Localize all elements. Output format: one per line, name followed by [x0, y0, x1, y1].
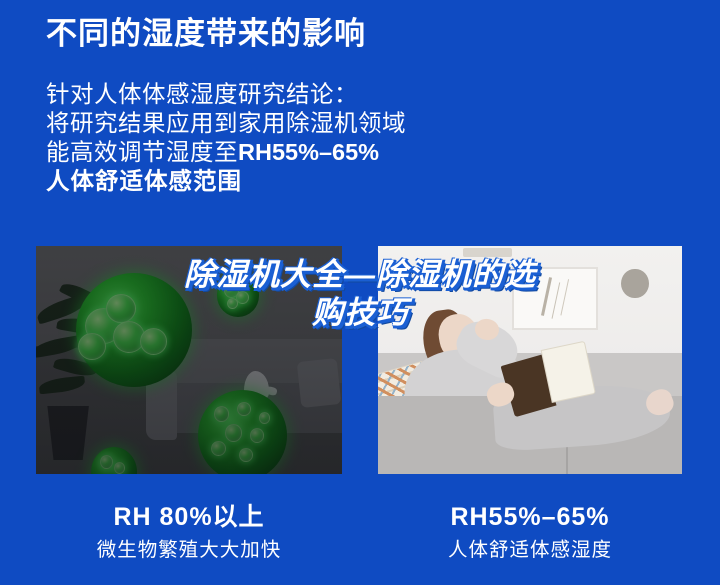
dark-sofa-seat: [152, 383, 342, 433]
wall-speaker: [621, 269, 648, 299]
intro-line-4: 人体舒适体感范围: [46, 167, 406, 196]
bright-room-scene: [378, 246, 682, 474]
dark-sofa-arm: [146, 371, 177, 439]
photo-right-comfort-humidity: [378, 246, 682, 474]
microbe-cell: [85, 308, 122, 344]
intro-line-3: 能高效调节湿度至RH55%–65%: [46, 138, 406, 167]
plant-leaf: [36, 335, 83, 358]
microbe-cluster-small: [91, 447, 137, 474]
microbe-cell: [250, 428, 264, 443]
intro-line-3-range: RH55%–65%: [238, 139, 379, 165]
microbe-cell: [259, 412, 271, 424]
microbe-cell: [236, 291, 249, 304]
intro-line-2: 将研究结果应用到家用除湿机领域: [46, 109, 406, 138]
plant-pot: [42, 406, 94, 461]
microbe-cluster-large: [76, 273, 192, 387]
caption-right-description: 人体舒适体感湿度: [378, 538, 682, 562]
microbe-cell: [214, 406, 229, 422]
microbe-cell: [211, 441, 226, 457]
intro-line-1: 针对人体体感湿度研究结论：: [46, 80, 406, 109]
microbe-cell: [78, 333, 106, 360]
plant-leaf: [38, 376, 85, 394]
shelf-decor: [463, 248, 512, 257]
microbe-cell: [237, 402, 251, 416]
plant-leaf: [57, 315, 105, 336]
caption-left-description: 微生物繁殖大大加快: [36, 538, 342, 562]
dark-sofa-back: [165, 339, 342, 398]
microbe-cell: [224, 283, 239, 298]
intro-line-3-prefix: 能高效调节湿度至: [46, 139, 238, 165]
plant-leaf: [53, 354, 98, 379]
page-title: 不同的湿度带来的影响: [46, 16, 366, 52]
microbe-cluster-medium: [217, 273, 260, 316]
caption-right: RH55%–65% 人体舒适体感湿度: [378, 502, 682, 562]
dark-room-scene: [36, 246, 342, 474]
intro-paragraph: 针对人体体感湿度研究结论： 将研究结果应用到家用除湿机领域 能高效调节湿度至RH…: [46, 80, 406, 196]
humidity-infographic-poster: 不同的湿度带来的影响 针对人体体感湿度研究结论： 将研究结果应用到家用除湿机领域…: [0, 0, 720, 585]
microbe-cell: [113, 321, 145, 353]
microbe-cell: [106, 294, 136, 323]
plant-leaf: [36, 293, 89, 324]
microbe-cell: [140, 328, 168, 355]
microbe-cell: [114, 462, 125, 474]
microbe-cell: [225, 424, 242, 442]
microbe-cluster-lower: [198, 390, 287, 474]
microbe-cell: [239, 448, 253, 462]
caption-right-value: RH55%–65%: [378, 502, 682, 533]
cat-figurine: [244, 371, 268, 401]
wall-floor-line: [36, 346, 342, 348]
dark-sofa-cushion: [297, 358, 341, 408]
plant-leaf: [60, 280, 98, 307]
wall-art-frame: [512, 267, 598, 330]
caption-left-value: RH 80%以上: [36, 502, 342, 533]
photo-left-high-humidity: [36, 246, 342, 474]
caption-left: RH 80%以上 微生物繁殖大大加快: [36, 502, 342, 562]
microbe-cell: [100, 455, 113, 469]
microbe-cell: [227, 298, 238, 310]
